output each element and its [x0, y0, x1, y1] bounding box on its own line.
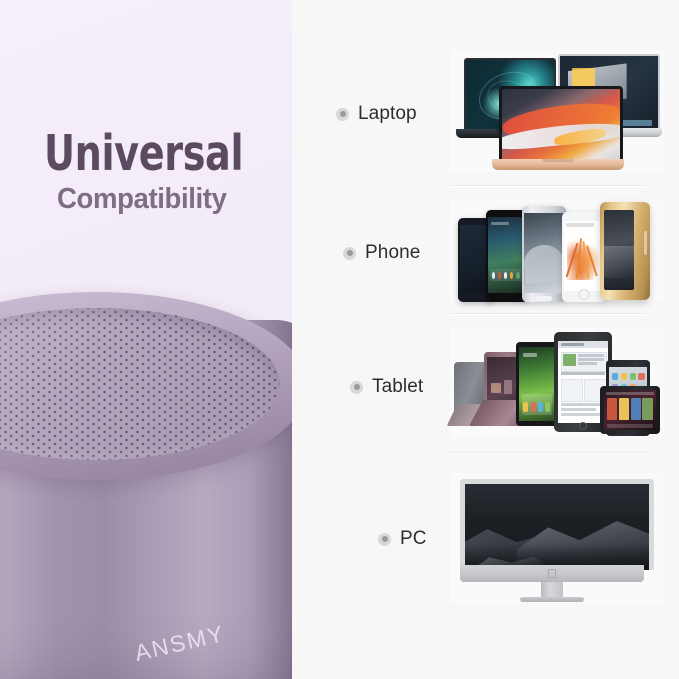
apple-logo-icon: : [547, 567, 557, 580]
galaxy-tab: [516, 342, 558, 426]
imac-foot: [520, 597, 584, 602]
device-row-tablet: Tablet: [292, 314, 679, 452]
kindle-fire-tablet: [600, 386, 660, 434]
row-label-text: Tablet: [372, 376, 423, 398]
row-label-phone: Phone: [343, 242, 420, 264]
headline-primary: Universal: [44, 130, 239, 178]
laptop-group-photo: [450, 50, 665, 172]
speaker-product-photo: ANSMY: [0, 292, 292, 679]
ring-bullet-icon: [378, 533, 391, 546]
ring-bullet-icon: [343, 247, 356, 260]
headline-secondary: Compatibility: [57, 184, 282, 214]
row-label-text: Phone: [365, 242, 420, 264]
phone-group-photo: [450, 200, 665, 302]
device-row-laptop: Laptop: [292, 0, 679, 185]
imac-neck: [541, 582, 563, 597]
device-row-phone: Phone: [292, 186, 679, 313]
row-label-text: PC: [400, 528, 427, 550]
device-row-pc: PC : [292, 453, 679, 679]
row-label-laptop: Laptop: [336, 103, 417, 125]
row-label-pc: PC: [378, 528, 427, 550]
silver-galaxy-edge-phone: [522, 206, 566, 302]
row-label-text: Laptop: [358, 103, 417, 125]
gold-phone: [600, 202, 650, 300]
row-label-tablet: Tablet: [350, 376, 423, 398]
gold-macbook: [492, 86, 624, 170]
product-compatibility-infographic: Universal Compatibility ANSMY Laptop: [0, 0, 679, 679]
ring-bullet-icon: [350, 381, 363, 394]
imac-photo: : [450, 473, 665, 603]
headline-block: Universal Compatibility: [44, 130, 292, 214]
ring-bullet-icon: [336, 108, 349, 121]
tablet-group-photo: [450, 328, 665, 438]
imac-display: [460, 479, 654, 570]
compatibility-list-panel: Laptop: [292, 0, 679, 679]
left-hero-panel: Universal Compatibility ANSMY: [0, 0, 292, 679]
imac-chin: : [460, 565, 644, 582]
